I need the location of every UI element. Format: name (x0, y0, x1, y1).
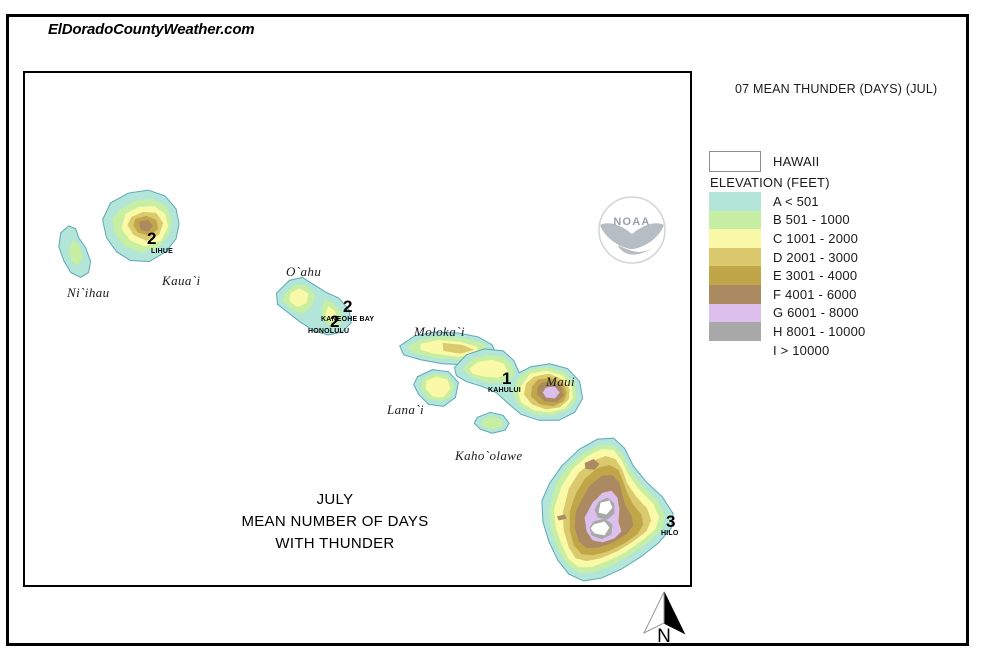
island-label-oahu: O`ahu (286, 264, 321, 280)
island-label-molokai: Moloka`i (414, 324, 465, 340)
legend-swatch-a (709, 192, 761, 211)
legend-swatch-f (709, 285, 761, 304)
legend-row-b: B 501 - 1000 (709, 211, 939, 230)
map-legend: HAWAII ELEVATION (FEET) A < 501B 501 - 1… (709, 150, 939, 359)
noaa-logo-text: NOAA (613, 216, 650, 228)
legend-row-h: H 8001 - 10000 (709, 322, 939, 341)
legend-swatch-i (709, 341, 761, 360)
site-title: ElDoradoCountyWeather.com (39, 21, 263, 38)
legend-row-f: F 4001 - 6000 (709, 285, 939, 304)
island-kahoolawe (474, 412, 509, 433)
noaa-logo: NOAA (588, 194, 676, 272)
legend-row-d: D 2001 - 3000 (709, 248, 939, 267)
legend-label-g: G 6001 - 8000 (773, 305, 859, 320)
island-label-kahoolawe: Kaho`olawe (455, 448, 523, 464)
legend-swatch-e (709, 266, 761, 285)
legend-label-hawaii: HAWAII (773, 154, 819, 169)
legend-label-b: B 501 - 1000 (773, 212, 850, 227)
legend-swatch-d (709, 248, 761, 267)
dataset-title: 07 MEAN THUNDER (DAYS) (JUL) (735, 82, 937, 96)
city-label-honolulu: HONOLULU (308, 328, 349, 335)
city-label-hilo: HILO (661, 530, 679, 537)
legend-swatch-b (709, 211, 761, 230)
island-label-maui: Maui (546, 374, 575, 390)
map-panel[interactable]: .cst { stroke:#5aa7b8; stroke-width:1; }… (23, 71, 692, 587)
city-label-kaneohebay: KANEOHE BAY (321, 316, 374, 323)
legend-label-d: D 2001 - 3000 (773, 250, 858, 265)
island-label-hawaii: Hawai`i (509, 582, 554, 587)
legend-entry-list: A < 501B 501 - 1000C 1001 - 2000D 2001 -… (709, 192, 939, 359)
island-niihau (59, 226, 91, 278)
thunder-days-value-lihue: 2 (147, 230, 156, 247)
city-label-lihue: LIHUE (151, 248, 173, 255)
island-label-lanai: Lana`i (387, 402, 424, 418)
island-label-kauai: Kaua`i (162, 273, 201, 289)
legend-elevation-heading: ELEVATION (FEET) (710, 175, 939, 190)
map-caption-line: MEAN NUMBER OF DAYS (220, 511, 450, 533)
legend-label-i: I > 10000 (773, 343, 829, 358)
legend-swatch-c (709, 229, 761, 248)
thunder-days-value-kahului: 1 (502, 370, 511, 387)
city-label-kahului: KAHULUI (488, 387, 521, 394)
legend-label-h: H 8001 - 10000 (773, 324, 865, 339)
legend-row-hawaii: HAWAII (709, 150, 939, 172)
north-arrow: N (636, 590, 692, 652)
map-caption: JULYMEAN NUMBER OF DAYSWITH THUNDER (220, 489, 450, 554)
legend-swatch-h (709, 322, 761, 341)
legend-label-e: E 3001 - 4000 (773, 268, 857, 283)
legend-row-c: C 1001 - 2000 (709, 229, 939, 248)
legend-label-c: C 1001 - 2000 (773, 231, 858, 246)
thunder-days-value-hilo: 3 (666, 513, 675, 530)
island-lanai (414, 370, 459, 407)
legend-swatch-hawaii (709, 151, 761, 172)
island-hawaii (542, 438, 673, 581)
map-caption-line: JULY (220, 489, 450, 511)
thunder-days-value-kaneohebay: 2 (343, 298, 352, 315)
legend-row-g: G 6001 - 8000 (709, 304, 939, 323)
legend-swatch-g (709, 304, 761, 323)
legend-row-a: A < 501 (709, 192, 939, 211)
island-label-niihau: Ni`ihau (67, 285, 110, 301)
legend-label-f: F 4001 - 6000 (773, 287, 857, 302)
island-oahu (276, 277, 351, 335)
legend-row-i: I > 10000 (709, 341, 939, 360)
legend-label-a: A < 501 (773, 194, 819, 209)
legend-row-e: E 3001 - 4000 (709, 266, 939, 285)
map-caption-line: WITH THUNDER (220, 533, 450, 555)
north-arrow-label: N (636, 627, 692, 646)
